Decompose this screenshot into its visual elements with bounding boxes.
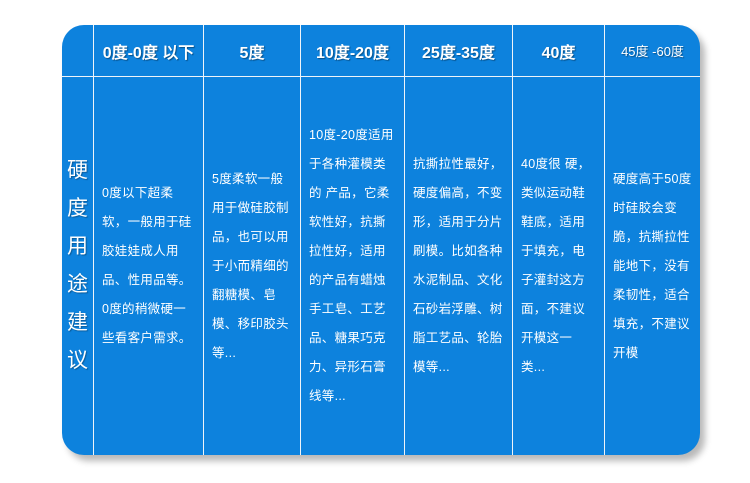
column-header-5: 45度 -60度 xyxy=(604,25,700,76)
table-cell-4: 40度很 硬，类似运动鞋鞋底，适用于填充，电子灌封这方面，不建议开模这一类... xyxy=(512,77,604,455)
hardness-usage-table: 0度-0度 以下 5度 10度-20度 25度-35度 40度 45度 -60度… xyxy=(62,25,700,455)
table-cell-0: 0度以下超柔软，一般用于硅胶娃娃成人用品、性用品等。0度的稍微硬一些看客户需求。 xyxy=(93,77,203,455)
column-header-3: 25度-35度 xyxy=(404,25,512,76)
row-label-text: 硬度用途建议 xyxy=(66,152,90,380)
table-cell-1: 5度柔软一般用于做硅胶制品，也可以用于小而精细的翻糖模、皂模、移印胶头等... xyxy=(203,77,300,455)
table-corner-cell xyxy=(62,25,93,76)
page-canvas: 0度-0度 以下 5度 10度-20度 25度-35度 40度 45度 -60度… xyxy=(0,0,750,483)
table-cell-2-text: 10度-20度适用于各种灌模类的 产品，它柔软性好，抗撕拉性好，适用的产品有蜡烛… xyxy=(309,121,396,411)
table-cell-1-text: 5度柔软一般用于做硅胶制品，也可以用于小而精细的翻糖模、皂模、移印胶头等... xyxy=(212,165,292,368)
table-header-row: 0度-0度 以下 5度 10度-20度 25度-35度 40度 45度 -60度 xyxy=(62,25,700,77)
table-cell-3-text: 抗撕拉性最好，硬度偏高，不变形，适用于分片刷模。比如各种水泥制品、文化石砂岩浮雕… xyxy=(413,150,504,382)
column-header-1: 5度 xyxy=(203,25,300,76)
table-cell-3: 抗撕拉性最好，硬度偏高，不变形，适用于分片刷模。比如各种水泥制品、文化石砂岩浮雕… xyxy=(404,77,512,455)
table-cell-0-text: 0度以下超柔软，一般用于硅胶娃娃成人用品、性用品等。0度的稍微硬一些看客户需求。 xyxy=(102,179,195,353)
row-label-cell: 硬度用途建议 xyxy=(62,77,93,455)
table-cell-5: 硬度高于50度时硅胶会变脆，抗撕拉性能地下，没有柔韧性，适合填充，不建议开模 xyxy=(604,77,700,455)
column-header-2: 10度-20度 xyxy=(300,25,404,76)
table-cell-2: 10度-20度适用于各种灌模类的 产品，它柔软性好，抗撕拉性好，适用的产品有蜡烛… xyxy=(300,77,404,455)
column-header-4: 40度 xyxy=(512,25,604,76)
table-cell-5-text: 硬度高于50度时硅胶会变脆，抗撕拉性能地下，没有柔韧性，适合填充，不建议开模 xyxy=(613,165,692,368)
table-body-row: 硬度用途建议 0度以下超柔软，一般用于硅胶娃娃成人用品、性用品等。0度的稍微硬一… xyxy=(62,77,700,455)
column-header-0: 0度-0度 以下 xyxy=(93,25,203,76)
table-cell-4-text: 40度很 硬，类似运动鞋鞋底，适用于填充，电子灌封这方面，不建议开模这一类... xyxy=(521,150,596,382)
